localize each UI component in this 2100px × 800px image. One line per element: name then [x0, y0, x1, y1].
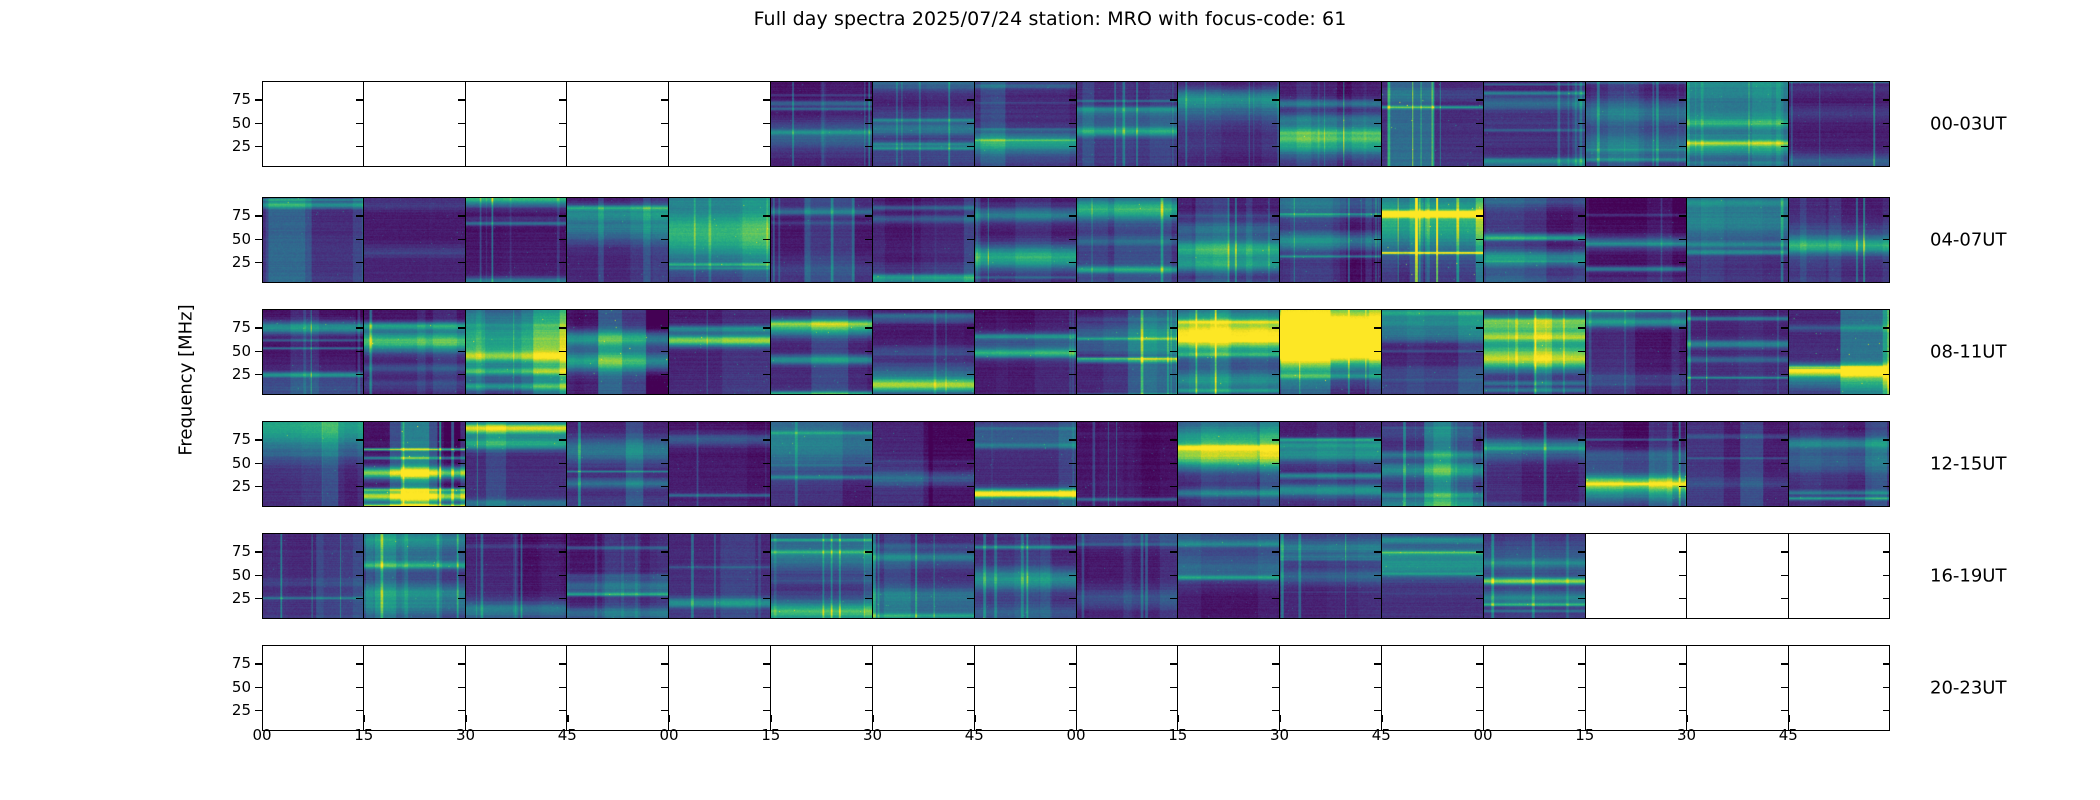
panel-tick-mark: [1679, 215, 1686, 216]
y-tick-label: 25: [232, 589, 251, 607]
spectrogram-panel: [974, 81, 1076, 167]
panel-tick-mark: [661, 575, 668, 576]
spectrogram-panel: [566, 421, 668, 507]
panel-tick-mark: [1578, 215, 1585, 216]
panel-tick-mark: [1578, 146, 1585, 147]
spectrogram-image: [669, 309, 770, 395]
spectrogram-panel: [566, 81, 668, 167]
panel-tick-mark: [356, 439, 363, 440]
spectrogram-panel: [1686, 533, 1788, 619]
spectrogram-panel: [1788, 197, 1890, 283]
panel-tick-mark: [1679, 663, 1686, 664]
panel-tick-mark: [1883, 463, 1890, 464]
spectrogram-image: [364, 421, 465, 507]
panel-tick-mark: [763, 598, 770, 599]
spectrogram-panel: [363, 197, 465, 283]
spectrogram-panel: [1483, 421, 1585, 507]
spectrogram-panel: [566, 197, 668, 283]
panel-tick-mark: [1883, 327, 1890, 328]
spectrogram-image: [1077, 421, 1178, 507]
panel-tick-mark: [661, 123, 668, 124]
y-tick-label: 25: [232, 253, 251, 271]
panel-tick-mark: [1069, 710, 1076, 711]
y-tick-label: 50: [232, 230, 251, 248]
panel-tick-mark: [763, 575, 770, 576]
spectrogram-panel: [1076, 533, 1178, 619]
panel-tick-mark: [865, 99, 872, 100]
panel-tick-mark: [865, 374, 872, 375]
panel-tick-mark: [1374, 687, 1381, 688]
spectrogram-image: [262, 309, 363, 395]
panel-tick-mark: [1679, 486, 1686, 487]
spectrogram-panel: [566, 645, 668, 731]
y-tick-mark: [255, 575, 262, 576]
spectrogram-image: [1382, 309, 1483, 395]
panel-tick-mark: [356, 215, 363, 216]
panel-tick-mark: [1272, 239, 1279, 240]
panel-tick-mark: [1374, 598, 1381, 599]
spectrogram-panel: [668, 533, 770, 619]
spectrogram-panel: [1076, 645, 1178, 731]
spectrogram-image: [1687, 421, 1788, 507]
y-tick-label: 75: [232, 318, 251, 336]
panel-tick-mark: [1679, 710, 1686, 711]
spectrogram-image: [1280, 81, 1381, 167]
panel-tick-mark: [1679, 439, 1686, 440]
spectrogram-panel: [465, 197, 567, 283]
panel-tick-mark: [559, 575, 566, 576]
panel-tick-mark: [661, 351, 668, 352]
x-tick-mark: [466, 715, 467, 722]
panel-tick-mark: [1374, 351, 1381, 352]
spectrogram-panel: [1585, 81, 1687, 167]
panel-tick-mark: [1578, 374, 1585, 375]
spectrogram-panel: [363, 421, 465, 507]
x-tick-label: 30: [1677, 726, 1696, 744]
spectrogram-image: [1789, 81, 1890, 167]
panel-tick-mark: [1883, 551, 1890, 552]
panel-tick-mark: [1374, 663, 1381, 664]
panel-tick-mark: [559, 486, 566, 487]
panel-tick-mark: [1883, 598, 1890, 599]
panel-tick-mark: [1476, 486, 1483, 487]
panel-tick-mark: [1069, 374, 1076, 375]
y-tick-mark: [255, 99, 262, 100]
spectrogram-panel: [1279, 645, 1381, 731]
panel-tick-mark: [1374, 374, 1381, 375]
spectrogram-row: 75502504-07UT: [262, 197, 1890, 283]
panel-tick-mark: [967, 215, 974, 216]
x-tick-mark: [771, 715, 772, 722]
panel-tick-mark: [1679, 463, 1686, 464]
panel-tick-mark: [1578, 598, 1585, 599]
spectrogram-panel: [262, 645, 363, 731]
y-tick-mark: [255, 663, 262, 664]
panel-tick-mark: [763, 710, 770, 711]
spectrogram-image: [1178, 309, 1279, 395]
spectrogram-image: [1484, 533, 1585, 619]
panel-tick-mark: [1781, 663, 1788, 664]
spectrogram-panel: [1483, 533, 1585, 619]
spectrogram-image: [1382, 533, 1483, 619]
x-tick-mark: [1687, 715, 1688, 722]
x-tick-label: 15: [354, 726, 373, 744]
row-label: 00-03UT: [1930, 114, 2006, 135]
spectrogram-panel: [1381, 309, 1483, 395]
spectrogram-image: [975, 421, 1076, 507]
panel-tick-mark: [1170, 262, 1177, 263]
spectrogram-panel: [1686, 309, 1788, 395]
figure: Full day spectra 2025/07/24 station: MRO…: [0, 0, 2100, 800]
y-tick-label: 50: [232, 678, 251, 696]
x-tick-mark: [669, 715, 670, 722]
panel-tick-mark: [1476, 710, 1483, 711]
spectrogram-panel: [668, 81, 770, 167]
spectrogram-panel: [770, 309, 872, 395]
panel-tick-mark: [1170, 215, 1177, 216]
spectrogram-image: [466, 533, 567, 619]
spectrogram-panel: [668, 309, 770, 395]
panel-tick-mark: [763, 439, 770, 440]
spectrogram-image: [364, 309, 465, 395]
panel-tick-mark: [763, 551, 770, 552]
panel-tick-mark: [1374, 262, 1381, 263]
spectrogram-image: [567, 421, 668, 507]
panel-tick-mark: [763, 663, 770, 664]
panel-tick-mark: [1578, 99, 1585, 100]
spectrogram-panel: [974, 533, 1076, 619]
panel-tick-mark: [1170, 374, 1177, 375]
spectrogram-panel: [1483, 645, 1585, 731]
spectrogram-panel: [1381, 197, 1483, 283]
y-axis-label: Frequency [MHz]: [176, 304, 197, 455]
panel-tick-mark: [458, 123, 465, 124]
x-tick-mark: [1483, 715, 1484, 722]
panel-tick-mark: [1578, 351, 1585, 352]
spectrogram-panel: [1788, 81, 1890, 167]
panel-tick-mark: [1272, 598, 1279, 599]
panel-tick-mark: [865, 439, 872, 440]
panel-tick-mark: [356, 327, 363, 328]
spectrogram-panel: [1076, 81, 1178, 167]
panel-tick-mark: [1476, 239, 1483, 240]
panel-tick-mark: [1069, 351, 1076, 352]
spectrogram-image: [873, 533, 974, 619]
panel-tick-mark: [458, 687, 465, 688]
panel-tick-mark: [661, 551, 668, 552]
panel-tick-mark: [1069, 439, 1076, 440]
row-panels: [262, 81, 1890, 167]
panel-tick-mark: [967, 463, 974, 464]
spectrogram-panel: [1585, 645, 1687, 731]
panel-tick-mark: [356, 598, 363, 599]
panel-tick-mark: [1883, 262, 1890, 263]
panel-tick-mark: [661, 710, 668, 711]
panel-tick-mark: [1578, 710, 1585, 711]
spectrogram-image: [364, 197, 465, 283]
panel-tick-mark: [865, 710, 872, 711]
panel-tick-mark: [458, 463, 465, 464]
x-tick-mark: [1178, 715, 1179, 722]
panel-tick-mark: [1781, 239, 1788, 240]
panel-tick-mark: [356, 486, 363, 487]
spectrogram-image: [1586, 197, 1687, 283]
panel-tick-mark: [1883, 99, 1890, 100]
panel-tick-mark: [967, 239, 974, 240]
spectrogram-panel: [1279, 533, 1381, 619]
spectrogram-image: [771, 533, 872, 619]
y-tick-mark: [255, 146, 262, 147]
panel-tick-mark: [559, 687, 566, 688]
panel-tick-mark: [1476, 439, 1483, 440]
spectrogram-panel: [262, 81, 363, 167]
spectrogram-image: [1077, 81, 1178, 167]
panel-tick-mark: [1069, 215, 1076, 216]
panel-tick-mark: [1170, 351, 1177, 352]
panel-tick-mark: [1679, 374, 1686, 375]
panel-tick-mark: [763, 374, 770, 375]
panel-tick-mark: [1272, 710, 1279, 711]
y-tick-label: 75: [232, 90, 251, 108]
spectrogram-panel: [872, 197, 974, 283]
y-tick-mark: [255, 598, 262, 599]
x-tick-mark: [1381, 715, 1382, 722]
spectrogram-panel: [872, 309, 974, 395]
panel-tick-mark: [1272, 374, 1279, 375]
spectrogram-row: 75502516-19UT: [262, 533, 1890, 619]
panel-tick-mark: [1069, 575, 1076, 576]
panel-tick-mark: [559, 239, 566, 240]
spectrogram-panel: [465, 645, 567, 731]
spectrogram-panel: [668, 421, 770, 507]
panel-tick-mark: [865, 687, 872, 688]
panel-tick-mark: [1781, 262, 1788, 263]
spectrogram-image: [1077, 533, 1178, 619]
spectrogram-image: [873, 197, 974, 283]
panel-tick-mark: [1883, 486, 1890, 487]
panel-tick-mark: [1272, 351, 1279, 352]
panel-tick-mark: [967, 327, 974, 328]
panel-tick-mark: [967, 598, 974, 599]
spectrogram-panel: [1788, 309, 1890, 395]
spectrogram-panel: [262, 533, 363, 619]
spectrogram-panel: [770, 197, 872, 283]
spectrogram-image: [1586, 421, 1687, 507]
panel-tick-mark: [356, 463, 363, 464]
panel-tick-mark: [1476, 262, 1483, 263]
panel-tick-mark: [458, 239, 465, 240]
spectrogram-row: 75502512-15UT: [262, 421, 1890, 507]
spectrogram-panel: [1279, 81, 1381, 167]
panel-tick-mark: [356, 663, 363, 664]
y-tick-label: 75: [232, 542, 251, 560]
panel-tick-mark: [1781, 687, 1788, 688]
panel-tick-mark: [865, 215, 872, 216]
panel-tick-mark: [1069, 486, 1076, 487]
panel-tick-mark: [458, 663, 465, 664]
x-tick-mark: [1585, 715, 1586, 722]
panel-tick-mark: [763, 687, 770, 688]
panel-tick-mark: [865, 146, 872, 147]
spectrogram-image: [1484, 197, 1585, 283]
x-tick-mark: [262, 715, 263, 722]
x-tick-mark: [1280, 715, 1281, 722]
panel-tick-mark: [1781, 575, 1788, 576]
panel-tick-mark: [967, 99, 974, 100]
spectrogram-image: [1484, 81, 1585, 167]
panel-tick-mark: [661, 663, 668, 664]
panel-tick-mark: [1069, 99, 1076, 100]
spectrogram-image: [771, 197, 872, 283]
spectrogram-panel: [1585, 533, 1687, 619]
y-tick-mark: [255, 439, 262, 440]
panel-tick-mark: [458, 351, 465, 352]
panel-tick-mark: [1679, 262, 1686, 263]
panel-tick-mark: [559, 262, 566, 263]
panel-tick-mark: [1476, 551, 1483, 552]
panel-tick-mark: [1476, 598, 1483, 599]
spectrogram-image: [1178, 533, 1279, 619]
y-tick-label: 25: [232, 477, 251, 495]
spectrogram-image: [466, 197, 567, 283]
spectrogram-image: [364, 533, 465, 619]
spectrogram-panel: [1585, 421, 1687, 507]
panel-tick-mark: [1781, 123, 1788, 124]
panel-tick-mark: [1679, 327, 1686, 328]
panel-tick-mark: [967, 687, 974, 688]
panel-tick-mark: [559, 598, 566, 599]
panel-tick-mark: [1272, 123, 1279, 124]
panel-tick-mark: [1476, 215, 1483, 216]
spectrogram-panel: [1076, 197, 1178, 283]
spectrogram-image: [1280, 197, 1381, 283]
panel-tick-mark: [1883, 215, 1890, 216]
spectrogram-image: [1789, 197, 1890, 283]
panel-tick-mark: [967, 575, 974, 576]
spectrogram-panel: [465, 421, 567, 507]
spectrogram-panel: [1177, 309, 1279, 395]
spectrogram-panel: [1279, 197, 1381, 283]
x-tick-mark: [873, 715, 874, 722]
panel-tick-mark: [967, 663, 974, 664]
panel-tick-mark: [1272, 463, 1279, 464]
spectrogram-panel: [770, 645, 872, 731]
x-tick-label: 30: [863, 726, 882, 744]
panel-tick-mark: [967, 374, 974, 375]
x-tick-label: 00: [1473, 726, 1492, 744]
spectrogram-panel: [1279, 421, 1381, 507]
panel-tick-mark: [1170, 598, 1177, 599]
panel-tick-mark: [559, 215, 566, 216]
panel-tick-mark: [1374, 99, 1381, 100]
spectrogram-panel: [872, 645, 974, 731]
spectrogram-panel: [262, 421, 363, 507]
panel-tick-mark: [1476, 146, 1483, 147]
panel-tick-mark: [763, 327, 770, 328]
panel-tick-mark: [559, 123, 566, 124]
panel-tick-mark: [458, 575, 465, 576]
panel-tick-mark: [1374, 439, 1381, 440]
panel-tick-mark: [356, 374, 363, 375]
panel-tick-mark: [458, 215, 465, 216]
panel-tick-mark: [1272, 215, 1279, 216]
spectrogram-image: [873, 421, 974, 507]
panel-tick-mark: [1476, 687, 1483, 688]
y-tick-label: 25: [232, 701, 251, 719]
spectrogram-panel: [1788, 421, 1890, 507]
x-tick-mark: [567, 715, 568, 722]
x-axis: 00153045001530450015304500153045: [262, 722, 1890, 762]
y-tick-label: 50: [232, 454, 251, 472]
panel-tick-mark: [1476, 327, 1483, 328]
panel-tick-mark: [763, 146, 770, 147]
panel-tick-mark: [1578, 663, 1585, 664]
panel-tick-mark: [1374, 123, 1381, 124]
panel-tick-mark: [356, 123, 363, 124]
panel-tick-mark: [967, 351, 974, 352]
spectrogram-image: [1382, 421, 1483, 507]
panel-tick-mark: [356, 99, 363, 100]
spectrogram-panel: [1585, 309, 1687, 395]
panel-tick-mark: [1679, 146, 1686, 147]
spectrogram-panel: [465, 533, 567, 619]
spectrogram-image: [771, 309, 872, 395]
panel-tick-mark: [458, 598, 465, 599]
panel-tick-mark: [1679, 123, 1686, 124]
panel-tick-mark: [1069, 239, 1076, 240]
panel-tick-mark: [1170, 463, 1177, 464]
y-tick-mark: [255, 239, 262, 240]
panel-tick-mark: [1781, 598, 1788, 599]
spectrogram-panel: [1177, 533, 1279, 619]
row-label: 04-07UT: [1930, 230, 2006, 251]
panel-tick-mark: [1069, 146, 1076, 147]
panel-tick-mark: [763, 239, 770, 240]
spectrogram-panel: [262, 197, 363, 283]
spectrogram-image: [1280, 533, 1381, 619]
spectrogram-image: [975, 533, 1076, 619]
panel-tick-mark: [1170, 486, 1177, 487]
row-panels: [262, 309, 1890, 395]
panel-tick-mark: [458, 374, 465, 375]
row-panels: [262, 197, 1890, 283]
x-tick-label: 45: [1372, 726, 1391, 744]
panel-tick-mark: [967, 123, 974, 124]
panel-tick-mark: [559, 663, 566, 664]
panel-tick-mark: [1374, 710, 1381, 711]
spectrogram-panel: [872, 81, 974, 167]
panel-tick-mark: [1170, 687, 1177, 688]
spectrogram-panel: [363, 309, 465, 395]
x-tick-label: 00: [659, 726, 678, 744]
panel-tick-mark: [661, 327, 668, 328]
panel-tick-mark: [1578, 486, 1585, 487]
spectrogram-panel: [566, 309, 668, 395]
spectrogram-row: 75502508-11UT: [262, 309, 1890, 395]
panel-tick-mark: [661, 439, 668, 440]
spectrogram-panel: [1076, 309, 1178, 395]
page-title: Full day spectra 2025/07/24 station: MRO…: [0, 8, 2100, 30]
spectrogram-panel: [1788, 645, 1890, 731]
x-tick-mark: [974, 715, 975, 722]
panel-tick-mark: [356, 239, 363, 240]
panel-tick-mark: [356, 146, 363, 147]
panel-tick-mark: [1374, 327, 1381, 328]
spectrogram-panel: [668, 197, 770, 283]
panel-tick-mark: [1679, 687, 1686, 688]
panel-tick-mark: [1170, 123, 1177, 124]
panel-tick-mark: [1069, 123, 1076, 124]
